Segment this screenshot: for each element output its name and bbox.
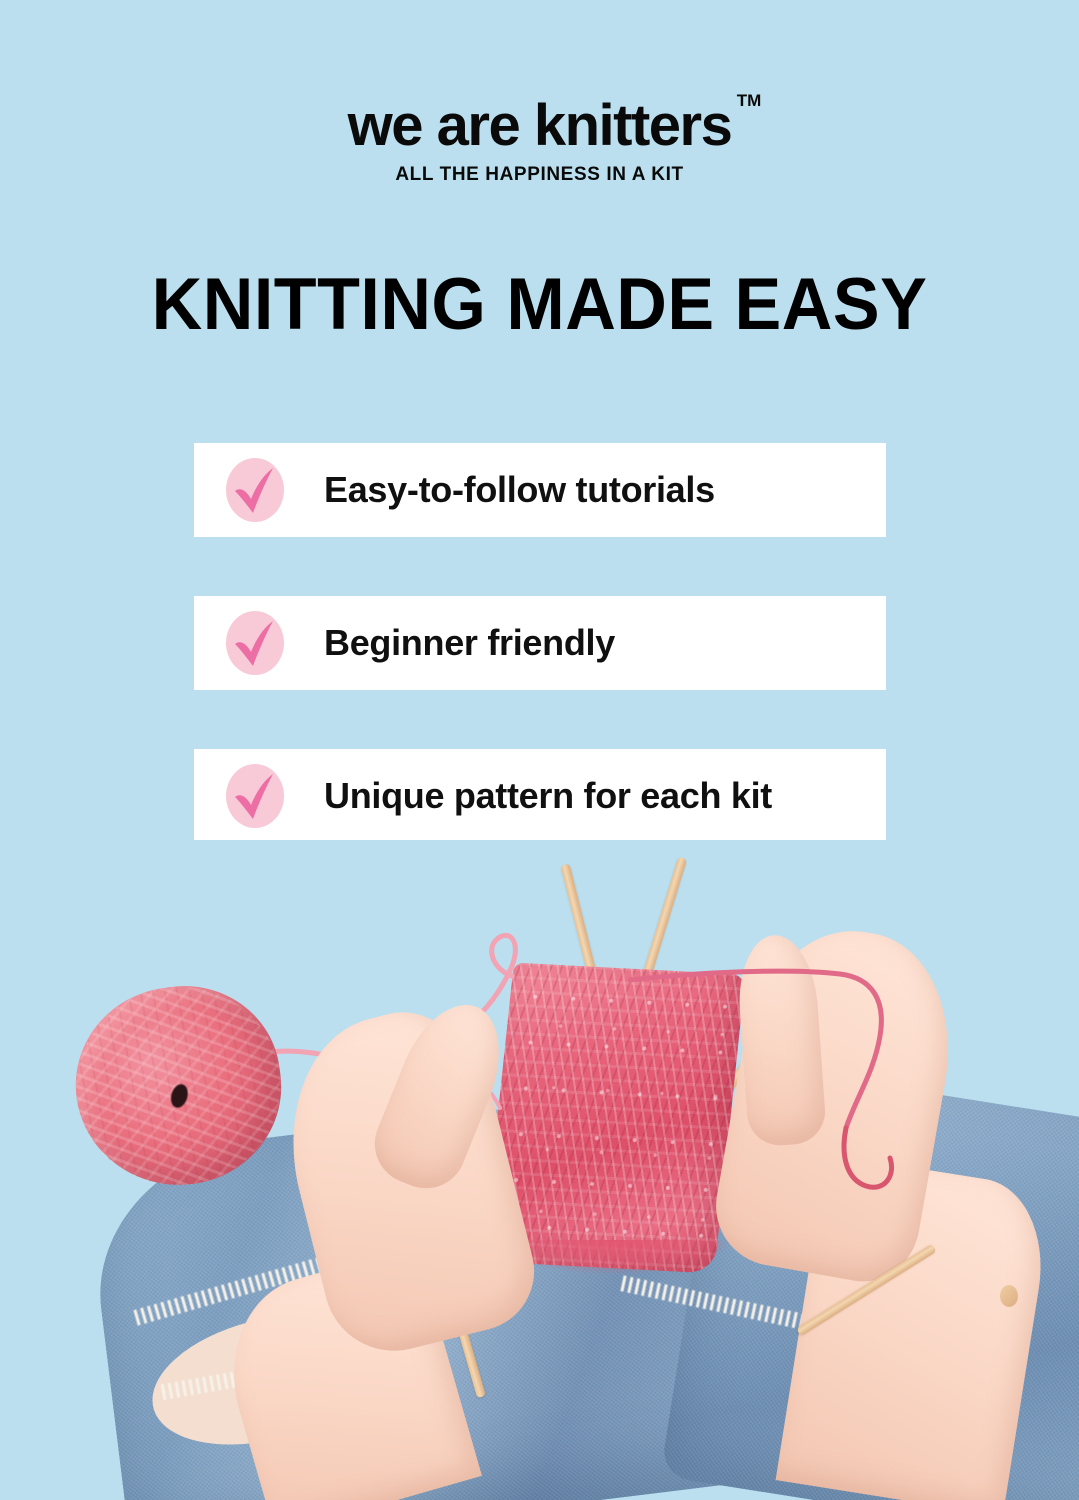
feature-card[interactable]: Easy-to-follow tutorials [194, 443, 886, 537]
check-icon [222, 455, 286, 525]
brand-name-text: we are knitters [348, 93, 732, 158]
feature-card[interactable]: Unique pattern for each kit [194, 749, 886, 843]
feature-card[interactable]: Beginner friendly [194, 596, 886, 690]
working-yarn [0, 840, 1079, 1500]
check-icon [222, 761, 286, 831]
check-icon [222, 608, 286, 678]
needle-knob [1000, 1285, 1018, 1307]
brand-block: we are knitters TM ALL THE HAPPINESS IN … [0, 96, 1079, 186]
check-icon-wrap [222, 455, 286, 525]
hero-photo [0, 840, 1079, 1500]
feature-label: Unique pattern for each kit [324, 775, 772, 817]
brand-wordmark: we are knitters TM [348, 96, 732, 156]
feature-list: Easy-to-follow tutorials Beginner friend… [194, 443, 886, 843]
check-icon-wrap [222, 761, 286, 831]
poster-canvas: we are knitters TM ALL THE HAPPINESS IN … [0, 0, 1079, 1500]
page-title: KNITTING MADE EASY [22, 266, 1058, 344]
trademark-icon: TM [737, 92, 762, 109]
feature-label: Easy-to-follow tutorials [324, 469, 715, 511]
feature-label: Beginner friendly [324, 622, 615, 664]
brand-tagline: ALL THE HAPPINESS IN A KIT [0, 164, 1079, 186]
check-icon-wrap [222, 608, 286, 678]
